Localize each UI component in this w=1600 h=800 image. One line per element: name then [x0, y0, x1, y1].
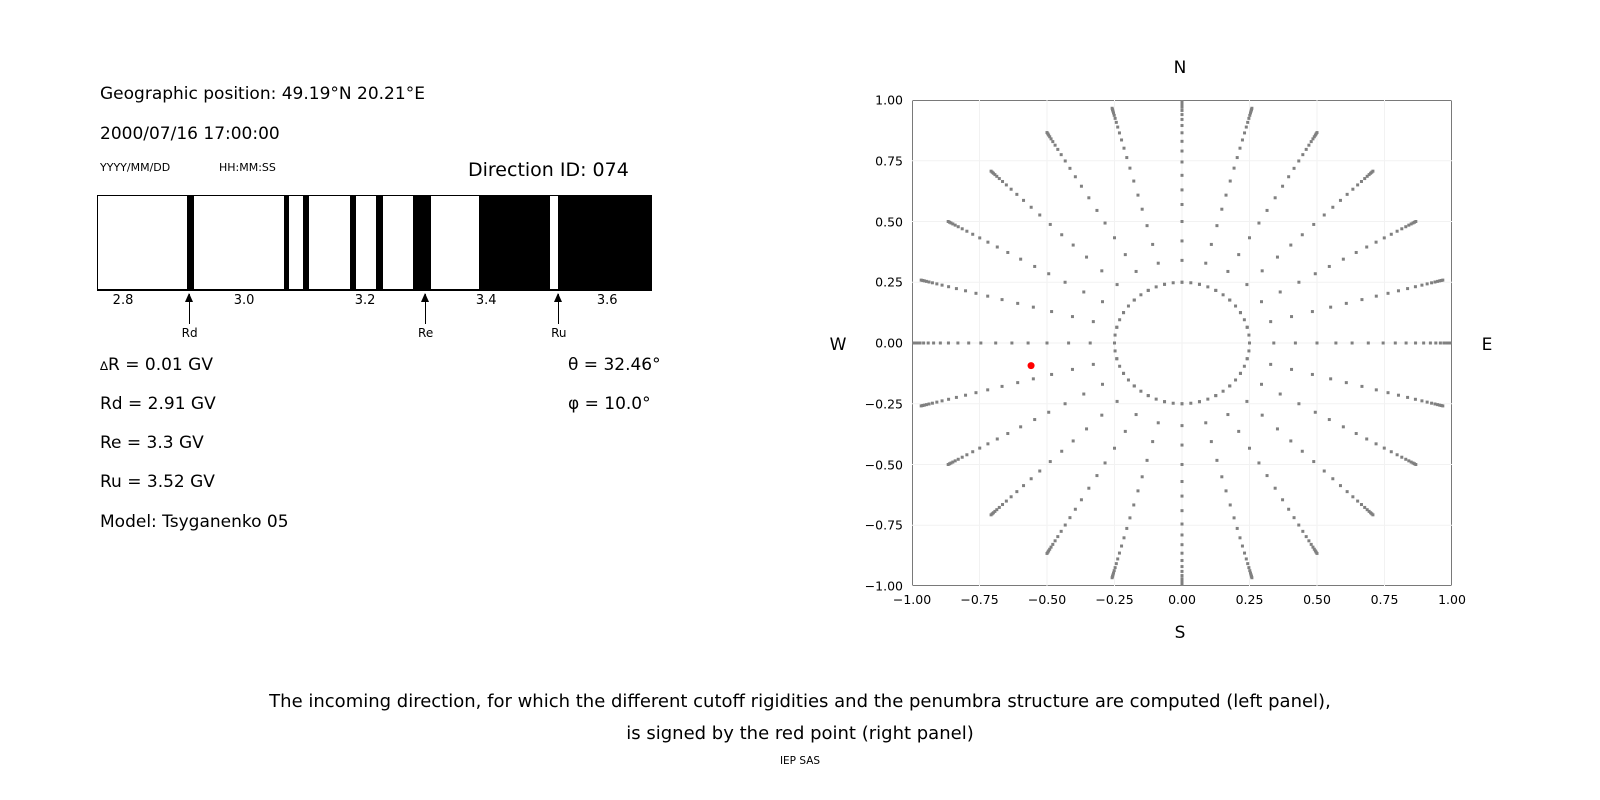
penumbra-tick-label: 3.0 [234, 293, 255, 308]
y-axis-tick-labels: −1.00−0.75−0.50−0.250.000.250.500.751.00 [855, 0, 903, 800]
penumbra-forbidden-band [558, 196, 652, 289]
y-tick-label: −0.25 [865, 396, 903, 411]
penumbra-tick-label: 3.6 [597, 293, 618, 308]
param-model: Model: Tsyganenko 05 [100, 512, 289, 532]
y-tick-label: −0.75 [865, 518, 903, 533]
sky-direction-scatter-plot [912, 100, 1452, 586]
y-tick-label: 0.50 [875, 214, 903, 229]
penumbra-forbidden-band [376, 196, 383, 289]
param-theta: θ = 32.46° [568, 355, 661, 375]
y-tick-label: 1.00 [875, 93, 903, 108]
caption-line-1: The incoming direction, for which the di… [0, 686, 1600, 718]
cardinal-west-label: W [830, 335, 847, 355]
penumbra-tick-label: 3.2 [355, 293, 376, 308]
arrow-up-icon [185, 293, 193, 302]
datetime-label: 2000/07/16 17:00:00 [100, 124, 280, 144]
y-tick-label: 0.75 [875, 153, 903, 168]
x-tick-label: 0.25 [1236, 592, 1264, 607]
param-delta-r-text: R = 0.01 GV [108, 355, 213, 375]
selected-direction-point [1028, 362, 1035, 369]
y-tick-label: 0.25 [875, 275, 903, 290]
delta-symbol: ∆ [100, 359, 108, 373]
x-tick-label: 0.00 [1168, 592, 1196, 607]
penumbra-forbidden-band [303, 196, 310, 289]
penumbra-panel: Geographic position: 49.19°N 20.21°E 200… [0, 0, 800, 660]
rigidity-marker-label: Ru [551, 326, 566, 340]
x-tick-label: −1.00 [893, 592, 931, 607]
penumbra-forbidden-band [350, 196, 356, 289]
x-tick-label: 1.00 [1438, 592, 1466, 607]
penumbra-structure-bar [97, 195, 652, 290]
param-rd: Rd = 2.91 GV [100, 394, 216, 414]
x-tick-label: −0.75 [960, 592, 998, 607]
penumbra-tick-label: 2.8 [113, 293, 134, 308]
caption-line-2: is signed by the red point (right panel) [0, 718, 1600, 750]
figure-caption: The incoming direction, for which the di… [0, 686, 1600, 750]
arrow-up-icon [554, 293, 562, 302]
param-phi: φ = 10.0° [568, 394, 651, 414]
x-tick-label: 0.75 [1371, 592, 1399, 607]
geographic-position-label: Geographic position: 49.19°N 20.21°E [100, 84, 425, 104]
penumbra-tick-label: 3.4 [476, 293, 497, 308]
param-ru: Ru = 3.52 GV [100, 472, 215, 492]
scatter-canvas [912, 100, 1452, 586]
penumbra-rigidity-axis: 2.83.03.23.43.6RdReRu [97, 290, 652, 350]
x-tick-label: 0.50 [1303, 592, 1331, 607]
rigidity-marker-label: Rd [182, 326, 198, 340]
cardinal-east-label: E [1482, 335, 1493, 355]
axis-line [97, 290, 652, 291]
direction-id-label: Direction ID: 074 [468, 159, 629, 181]
rigidity-marker-label: Re [418, 326, 433, 340]
penumbra-forbidden-band [413, 196, 431, 289]
penumbra-forbidden-band [187, 196, 194, 289]
param-delta-r: ∆R = 0.01 GV [100, 355, 213, 375]
y-tick-label: −0.50 [865, 457, 903, 472]
penumbra-forbidden-band [284, 196, 289, 289]
penumbra-forbidden-band [479, 196, 491, 289]
x-tick-label: −0.50 [1028, 592, 1066, 607]
cardinal-north-label: N [1174, 58, 1187, 78]
date-format-hint: YYYY/MM/DD [100, 161, 170, 174]
penumbra-forbidden-band [497, 196, 550, 289]
cardinal-south-label: S [1175, 623, 1186, 643]
arrow-up-icon [421, 293, 429, 302]
y-tick-label: 0.00 [875, 336, 903, 351]
footer-credit: IEP SAS [0, 755, 1600, 767]
x-tick-label: −0.25 [1095, 592, 1133, 607]
param-re: Re = 3.3 GV [100, 433, 204, 453]
time-format-hint: HH:MM:SS [219, 161, 276, 174]
